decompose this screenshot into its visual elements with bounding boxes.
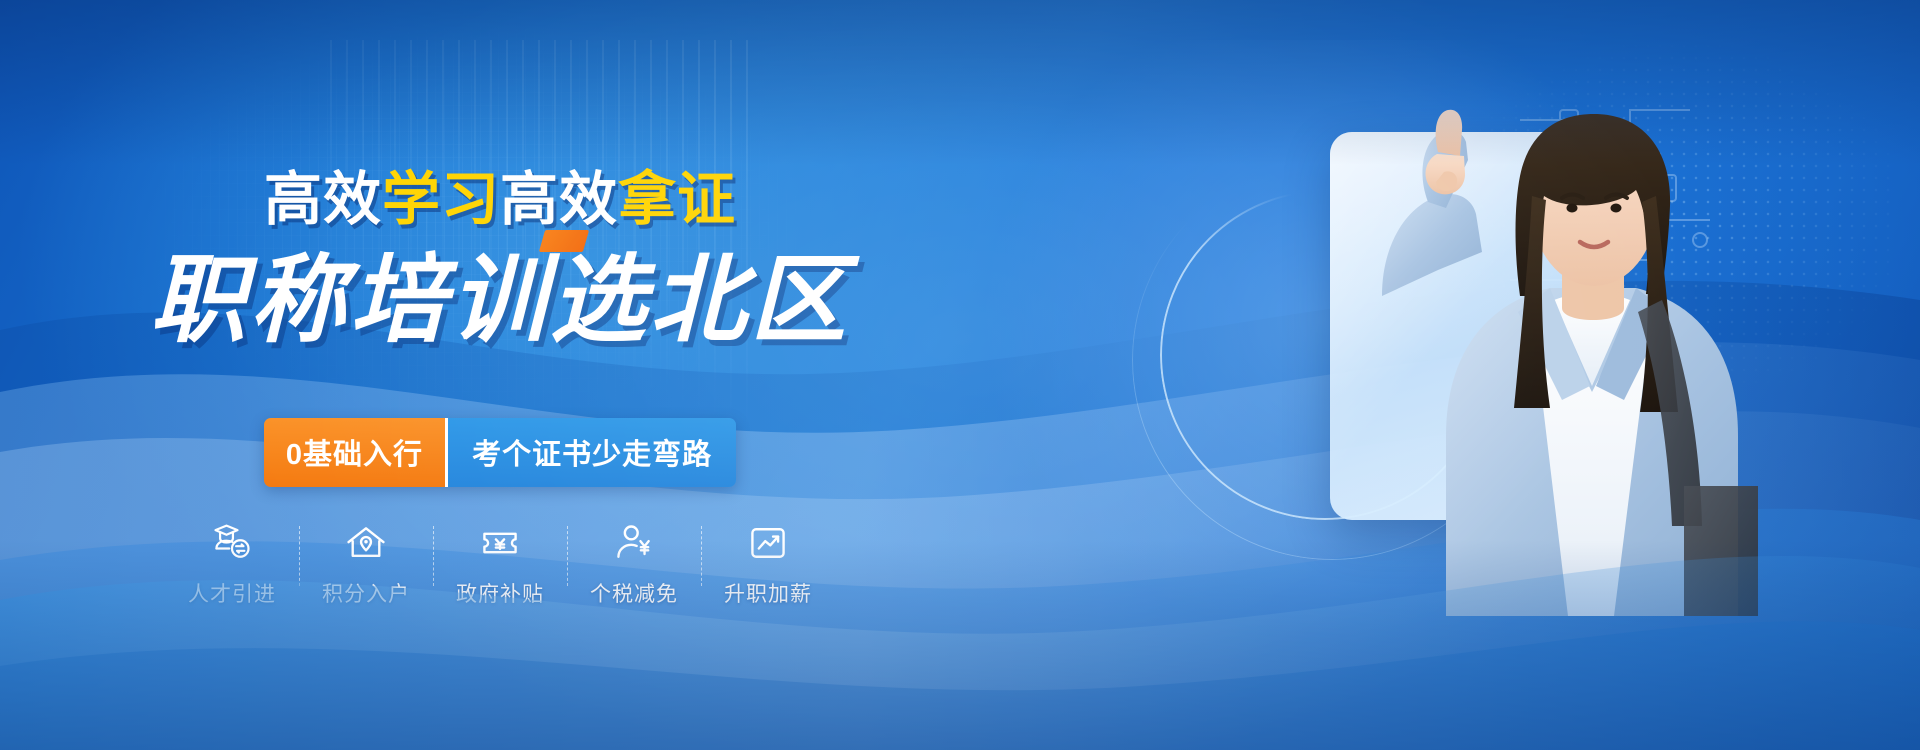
promo-banner: 高效学习高效拿证 职称培训选北区 0基础入行 考个证书少走弯路: [0, 0, 1920, 750]
vignette-overlay: [0, 0, 1920, 750]
